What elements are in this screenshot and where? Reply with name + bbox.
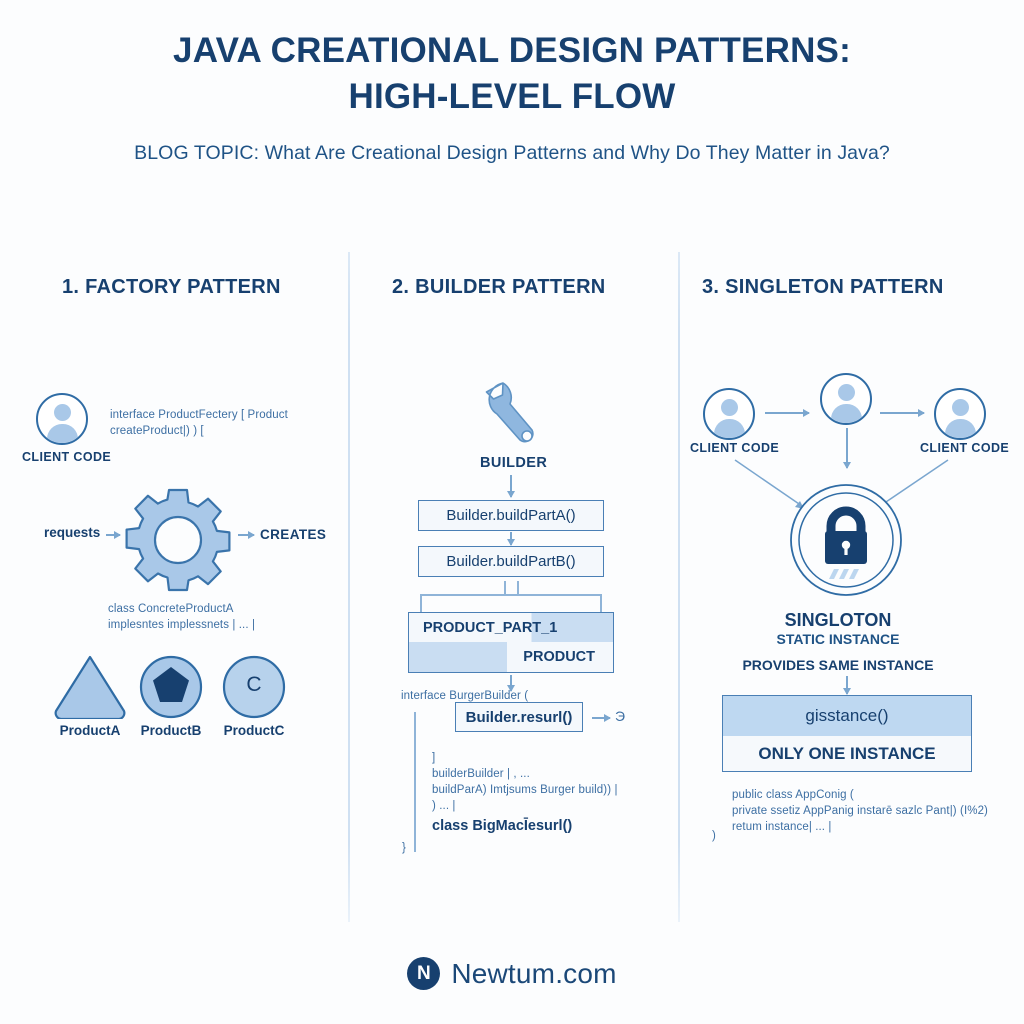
singleton-arrow-left-to-center — [765, 412, 809, 414]
product-c-letter: C — [222, 673, 286, 697]
singleton-closing-brace: ) — [712, 828, 716, 844]
builder-bracket-drop-left — [420, 594, 422, 612]
factory-requests-label: requests — [44, 525, 100, 540]
singleton-instance-method-box[interactable]: gisstance() — [722, 695, 972, 737]
header: JAVA CREATIONAL DESIGN PATTERNS: HIGH-LE… — [0, 28, 1024, 165]
builder-left-rail — [414, 712, 416, 852]
factory-requests-arrow — [106, 534, 120, 536]
singleton-code: public class AppConig ( private ssetiz A… — [732, 787, 994, 835]
builder-bracket-drop-right — [600, 594, 602, 612]
builder-bracket-stem-left — [504, 581, 506, 595]
footer-logo[interactable]: N Newtum.com — [0, 957, 1024, 990]
page-title-line-1: JAVA CREATIONAL DESIGN PATTERNS: — [0, 28, 1024, 74]
singleton-only-one-instance-box[interactable]: ONLY ONE INSTANCE — [722, 736, 972, 772]
builder-product-box[interactable]: PRODUCT — [408, 642, 614, 673]
singleton-provides-label: PROVIDES SAME INSTANCE — [678, 657, 998, 673]
builder-arrow-to-step-a — [510, 475, 512, 497]
infographic-page: JAVA CREATIONAL DESIGN PATTERNS: HIGH-LE… — [0, 0, 1024, 1024]
builder-step-b-box[interactable]: Builder.buildPartB() — [418, 546, 604, 577]
avatar-head-icon — [54, 404, 71, 421]
column-divider-1 — [348, 252, 350, 922]
avatar-body-icon — [831, 404, 862, 425]
avatar-head-icon — [952, 399, 969, 416]
builder-step-a-box[interactable]: Builder.buildPartA() — [418, 500, 604, 531]
column-heading-builder: 2. BUILDER PATTERN — [392, 276, 606, 299]
page-subtitle: BLOG TOPIC: What Are Creational Design P… — [0, 142, 1024, 165]
factory-client-avatar — [36, 393, 88, 445]
factory-client-code-label: CLIENT CODE — [22, 450, 111, 464]
builder-class-line: class BigMacĪesurl() — [432, 818, 572, 834]
product-a-label: ProductA — [52, 723, 128, 738]
builder-result-box[interactable]: Builder.resurl() — [455, 702, 583, 732]
product-c-label: ProductC — [216, 723, 292, 738]
column-divider-2 — [678, 252, 680, 922]
builder-bracket-stem-right — [517, 581, 519, 595]
factory-interface-code: interface ProductFectery [ Product creat… — [110, 407, 310, 439]
builder-product-part-1-box[interactable]: PRODUCT_PART_1 — [408, 612, 614, 643]
builder-result-arrow — [592, 717, 610, 719]
singleton-arrow-center-to-right — [880, 412, 924, 414]
builder-body-code: ] builderBuilder | , ... buildParA) Imtj… — [432, 750, 642, 814]
factory-concrete-code: class ConcreteProductA implesntes imples… — [108, 601, 338, 633]
product-b-label: ProductB — [133, 723, 209, 738]
avatar-body-icon — [47, 424, 78, 445]
avatar-body-icon — [945, 419, 976, 440]
singleton-arrow-center-down — [846, 428, 848, 468]
singleton-client-code-right-label: CLIENT CODE — [920, 441, 1009, 455]
builder-label: BUILDER — [480, 455, 547, 471]
singleton-center-avatar — [820, 373, 872, 425]
lock-icon — [789, 483, 903, 597]
column-heading-factory: 1. FACTORY PATTERN — [62, 276, 281, 299]
singleton-client-code-left-label: CLIENT CODE — [690, 441, 779, 455]
builder-arrow-to-step-b — [510, 532, 512, 545]
builder-bracket-arm-right — [504, 594, 602, 596]
singleton-client-avatar-right — [934, 388, 986, 440]
gear-icon — [122, 484, 234, 596]
column-heading-singleton: 3. SINGLETON PATTERN — [702, 276, 944, 299]
builder-closing-brace: } — [402, 840, 406, 856]
product-a-triangle-icon — [52, 653, 128, 719]
newtum-logo-text: Newtum.com — [451, 958, 616, 990]
singleton-client-avatar-left — [703, 388, 755, 440]
avatar-body-icon — [714, 419, 745, 440]
wrench-icon — [483, 381, 541, 451]
singleton-title: SINGLOTON — [678, 610, 998, 631]
avatar-head-icon — [838, 384, 855, 401]
builder-result-arrow-glyph: Э — [615, 708, 625, 724]
factory-creates-arrow — [238, 534, 254, 536]
newtum-logo-icon: N — [407, 957, 440, 990]
singleton-arrow-to-instance-box — [846, 676, 848, 694]
page-title-line-2: HIGH-LEVEL FLOW — [0, 74, 1024, 120]
factory-creates-label: CREATES — [260, 527, 326, 542]
avatar-head-icon — [721, 399, 738, 416]
singleton-subtitle: STATIC INSTANCE — [678, 631, 998, 647]
product-b-pentagon-icon — [139, 655, 203, 719]
